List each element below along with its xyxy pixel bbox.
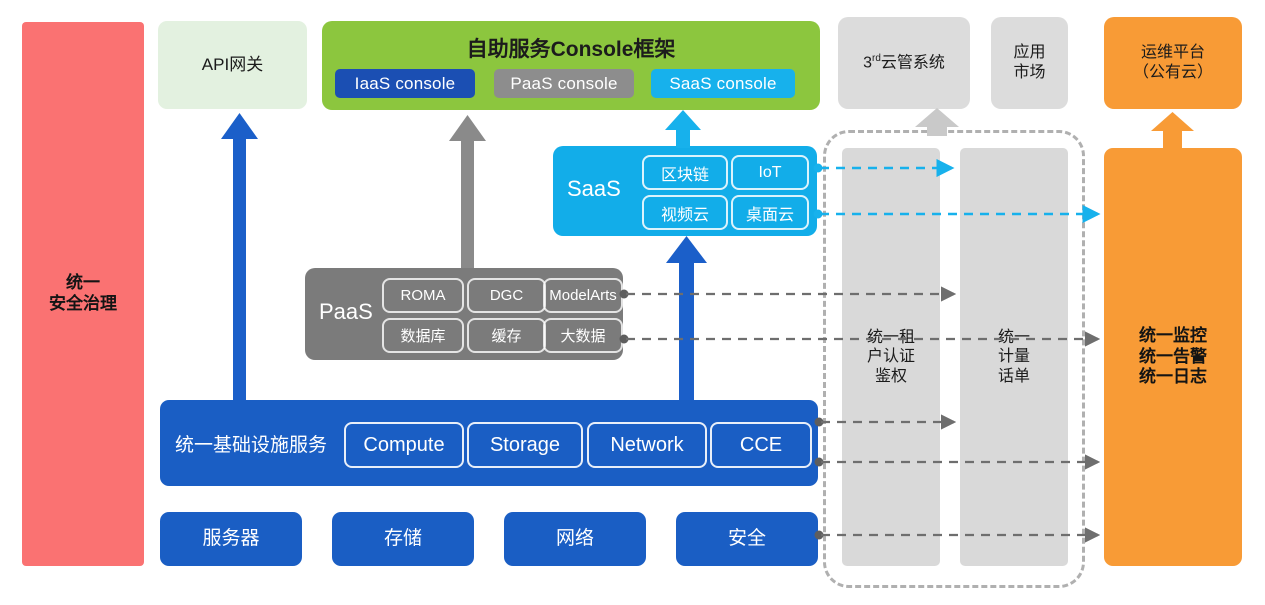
hardware-box-storage[interactable]: 存储 [332, 512, 474, 566]
hardware-box-network[interactable]: 网络 [504, 512, 646, 566]
paas-chip-database[interactable]: 数据库 [382, 318, 464, 353]
paas-chip-label: 大数据 [560, 325, 605, 346]
ops-platform-public-cloud-box[interactable]: 运维平台 （公有云） [1104, 17, 1242, 109]
ops-platform-line-2: （公有云） [1133, 63, 1213, 83]
infra-layer-label: 统一基础设施服务 [175, 430, 327, 457]
infra-chip-label: Compute [363, 434, 444, 457]
hardware-box-security[interactable]: 安全 [676, 512, 818, 566]
hardware-label: 安全 [728, 527, 766, 550]
ops-panel-line-1: 统一告警 [1139, 347, 1207, 368]
paas-chip-label: ROMA [401, 287, 446, 304]
paas-chip-dgc[interactable]: DGC [467, 278, 546, 313]
paas-chip-bigdata[interactable]: 大数据 [543, 318, 623, 353]
paas-chip-label: ModelArts [549, 287, 617, 304]
architecture-diagram: 统一租 户认证 鉴权 统一 计量 话单 统一 安全治理 API网关 自助服务Co… [0, 0, 1265, 605]
hardware-label: 网络 [556, 527, 594, 550]
iaas-console-label: IaaS console [355, 74, 456, 94]
paas-chip-cache[interactable]: 缓存 [467, 318, 546, 353]
infra-chip-network[interactable]: Network [587, 422, 707, 468]
ops-platform-line-1: 运维平台 [1141, 43, 1205, 63]
saas-console-pill[interactable]: SaaS console [651, 69, 795, 98]
hardware-label: 存储 [384, 527, 422, 550]
column-unified-metering-billing: 统一 计量 话单 [960, 148, 1068, 566]
saas-chip-label: 视频云 [661, 201, 709, 225]
governance-line-1: 统一 [66, 273, 100, 294]
column-line-1: 户认证 [867, 347, 915, 367]
column-line-2: 话单 [998, 367, 1030, 387]
third-party-prefix: 3 [863, 54, 872, 71]
ops-panel-line-2: 统一日志 [1139, 367, 1207, 388]
paas-console-label: PaaS console [510, 74, 617, 94]
paas-chip-label: 数据库 [400, 325, 445, 346]
column-line-0: 统一租 [867, 328, 915, 348]
saas-console-label: SaaS console [669, 74, 776, 94]
hardware-box-server[interactable]: 服务器 [160, 512, 302, 566]
column-line-0: 统一 [998, 328, 1030, 348]
third-party-suffix: 云管系统 [881, 54, 945, 71]
column-line-1: 计量 [998, 347, 1030, 367]
saas-chip-label: 区块链 [661, 161, 709, 185]
api-gateway-label: API网关 [202, 55, 263, 76]
infra-chip-compute[interactable]: Compute [344, 422, 464, 468]
saas-chip-blockchain[interactable]: 区块链 [642, 155, 728, 190]
saas-chip-video-cloud[interactable]: 视频云 [642, 195, 728, 230]
paas-chip-modelarts[interactable]: ModelArts [543, 278, 623, 313]
saas-layer: SaaS 区块链 IoT 视频云 桌面云 [553, 146, 817, 236]
saas-chip-label: 桌面云 [746, 201, 794, 225]
paas-layer: PaaS ROMA DGC ModelArts 数据库 缓存 大数据 [305, 268, 623, 360]
third-party-label: 3rd云管系统 [863, 53, 945, 73]
arrow-paas-to-console [449, 115, 486, 268]
hardware-label: 服务器 [202, 527, 259, 550]
self-service-console-framework: 自助服务Console框架 IaaS console PaaS console … [322, 21, 820, 110]
third-party-cloud-mgmt-box[interactable]: 3rd云管系统 [838, 17, 970, 109]
iaas-console-pill[interactable]: IaaS console [335, 69, 475, 98]
paas-console-pill[interactable]: PaaS console [494, 69, 634, 98]
paas-chip-label: 缓存 [491, 325, 521, 346]
infra-chip-storage[interactable]: Storage [467, 422, 583, 468]
saas-chip-label: IoT [758, 164, 781, 182]
column-line-2: 鉴权 [875, 367, 907, 387]
infra-chip-label: Network [610, 434, 683, 457]
paas-chip-label: DGC [490, 287, 523, 304]
third-party-sup: rd [872, 53, 881, 64]
paas-chip-roma[interactable]: ROMA [382, 278, 464, 313]
app-market-box[interactable]: 应用 市场 [991, 17, 1068, 109]
unified-monitoring-panel: 统一监控 统一告警 统一日志 [1104, 148, 1242, 566]
arrow-infra-to-saas [666, 236, 707, 400]
app-market-line-2: 市场 [1013, 63, 1045, 83]
infra-chip-label: Storage [490, 434, 560, 457]
infra-chip-label: CCE [740, 434, 782, 457]
arrow-infra-to-api-gateway [221, 113, 258, 400]
unified-security-governance-panel: 统一 安全治理 [22, 22, 144, 566]
saas-chip-desktop-cloud[interactable]: 桌面云 [731, 195, 809, 230]
governance-line-2: 安全治理 [49, 294, 117, 315]
saas-chip-iot[interactable]: IoT [731, 155, 809, 190]
saas-layer-label: SaaS [567, 176, 621, 202]
arrow-ops-panel-to-ops-platform [1151, 112, 1194, 148]
infra-chip-cce[interactable]: CCE [710, 422, 812, 468]
paas-layer-label: PaaS [319, 299, 373, 325]
api-gateway-box[interactable]: API网关 [158, 21, 307, 109]
unified-infrastructure-service-layer: 统一基础设施服务 Compute Storage Network CCE [160, 400, 818, 486]
app-market-line-1: 应用 [1013, 43, 1045, 63]
ops-panel-line-0: 统一监控 [1139, 326, 1207, 347]
arrow-saas-to-saas-console [665, 110, 701, 148]
column-unified-tenant-auth: 统一租 户认证 鉴权 [842, 148, 940, 566]
console-framework-title: 自助服务Console框架 [322, 33, 820, 63]
